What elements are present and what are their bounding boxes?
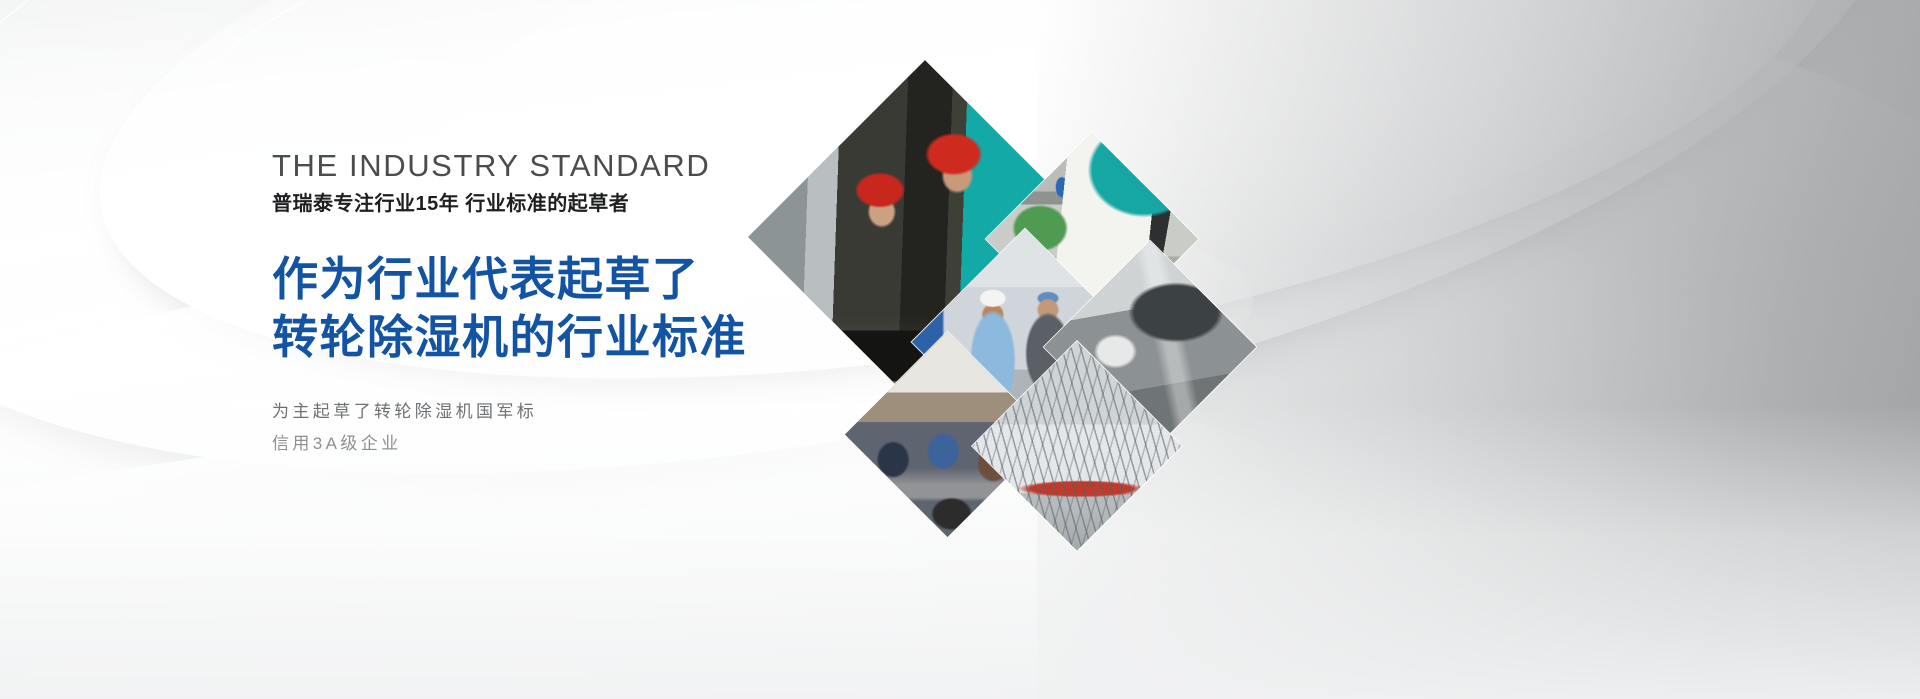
chinese-tagline: 普瑞泰专注行业15年 行业标准的起草者 [272,187,912,216]
sub-line-2: 信用3A级企业 [272,428,912,459]
sub-text-block: 为主起草了转轮除湿机国军标 信用3A级企业 [272,396,912,459]
sub-line-1: 为主起草了转轮除湿机国军标 [272,396,912,427]
headline-line-1: 作为行业代表起草了 [272,250,912,308]
english-title: THE INDUSTRY STANDARD [272,150,912,183]
headline: 作为行业代表起草了 转轮除湿机的行业标准 [272,250,912,367]
industry-standard-banner: THE INDUSTRY STANDARD 普瑞泰专注行业15年 行业标准的起草… [0,0,1920,699]
headline-line-2: 转轮除湿机的行业标准 [272,308,912,366]
banner-copy: THE INDUSTRY STANDARD 普瑞泰专注行业15年 行业标准的起草… [272,150,912,459]
